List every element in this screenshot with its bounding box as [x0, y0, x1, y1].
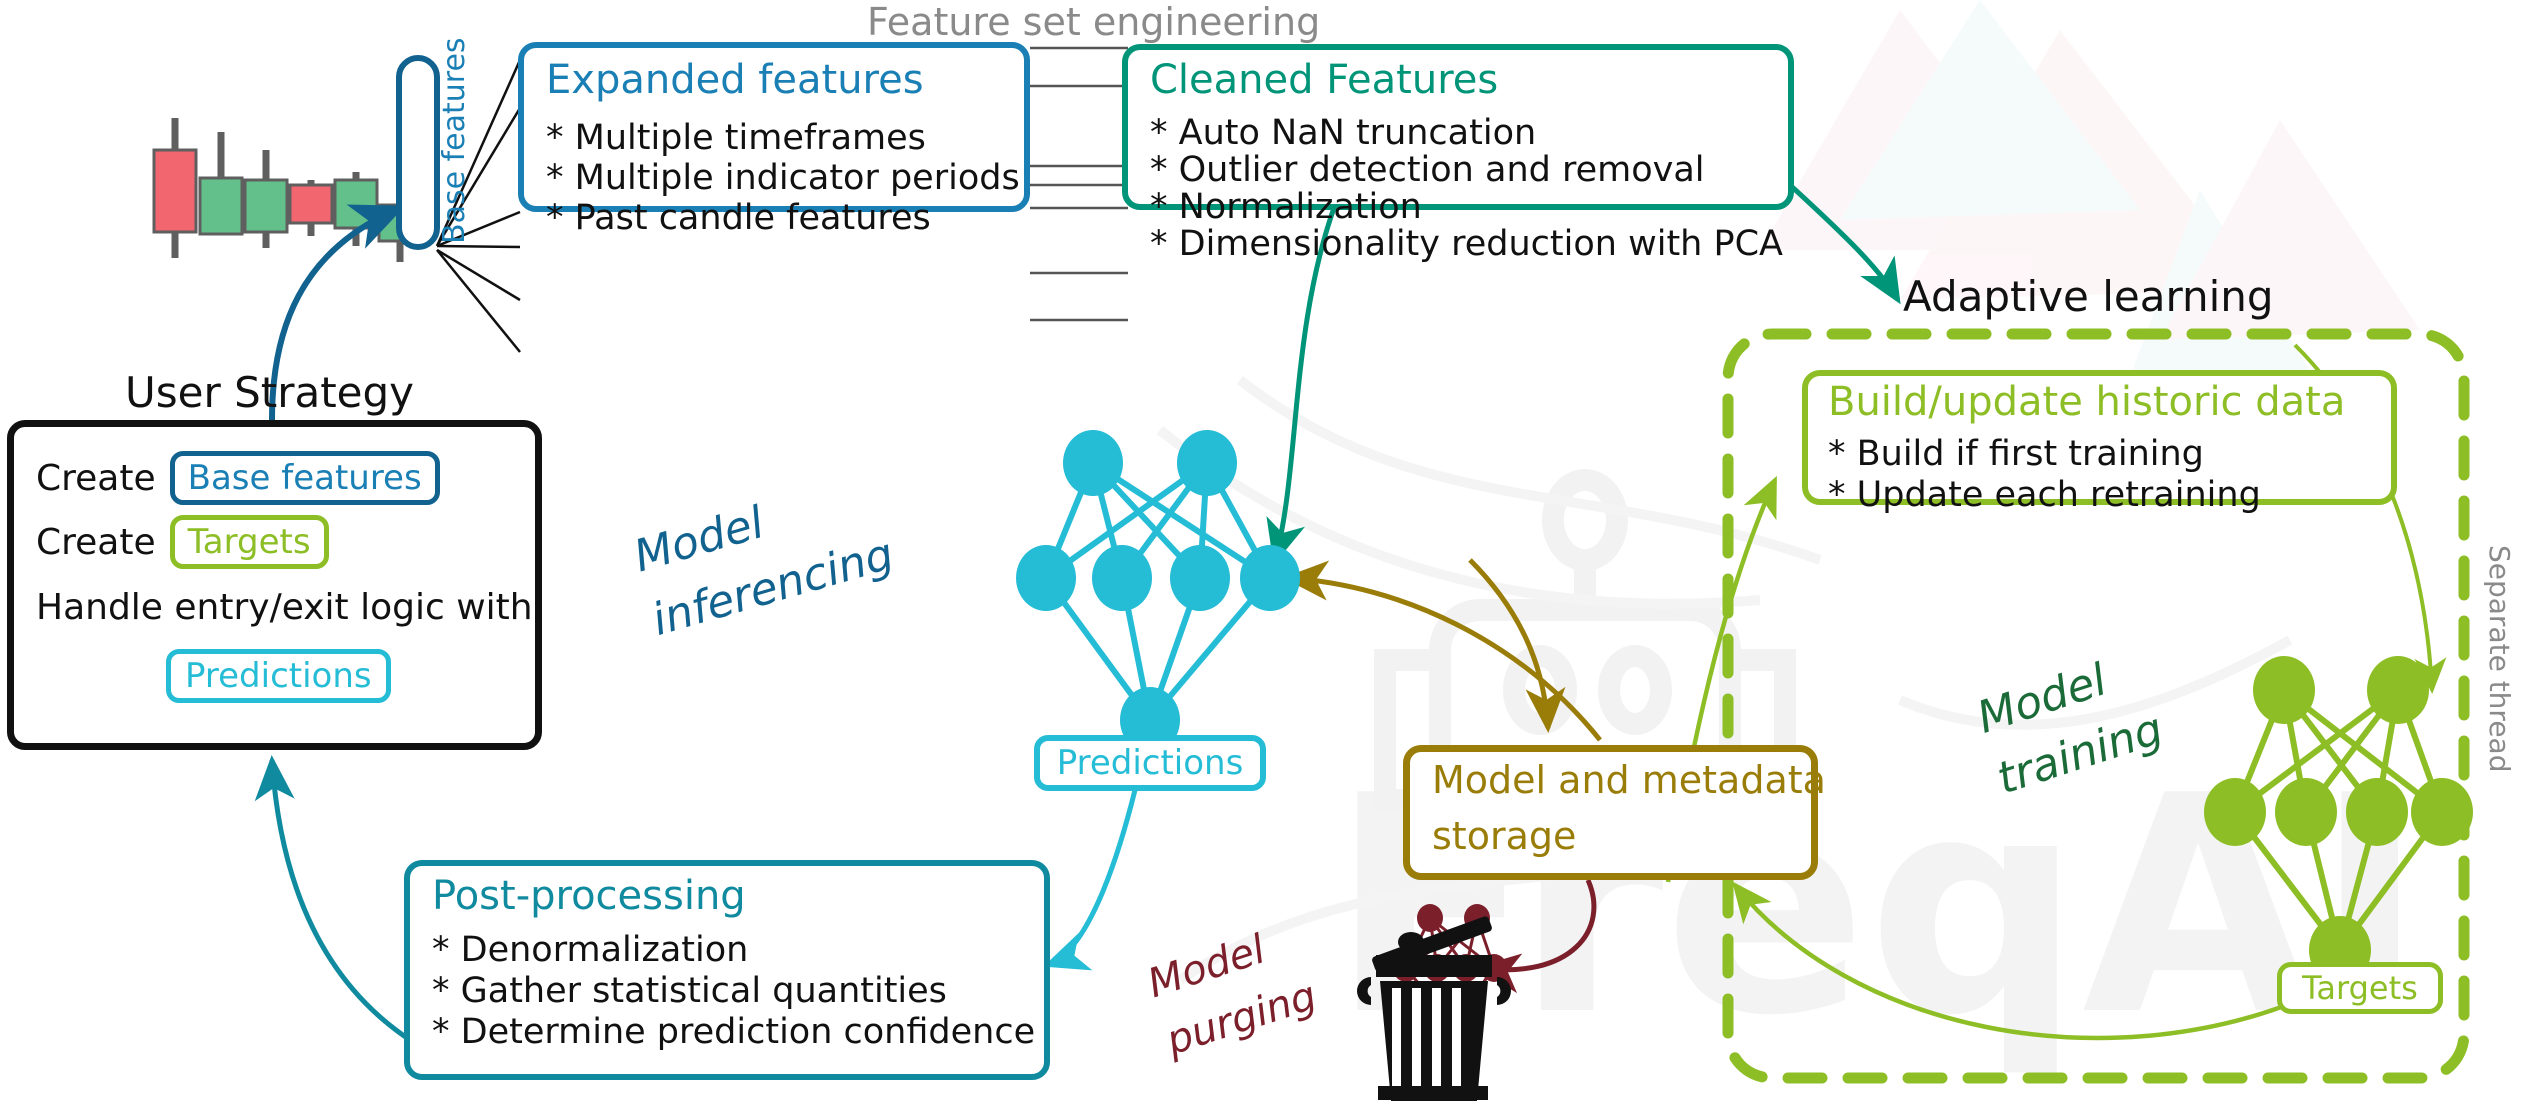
feature-set-engineering-header: Feature set engineering — [867, 0, 1320, 44]
cleaned-features-bullet-0: * Auto NaN truncation — [1150, 113, 1536, 154]
model-storage-line-2: storage — [1432, 814, 1576, 858]
predictions-inline-pill[interactable]: Predictions — [166, 649, 391, 703]
cleaned-features-bullet-2: * Normalization — [1150, 187, 1422, 228]
base-features-inline-pill[interactable]: Base features — [170, 451, 440, 505]
post-processing-bullet-0: * Denormalization — [432, 930, 748, 971]
user-strategy-line-1: Create Targets — [36, 515, 329, 569]
handle-logic-label: Handle entry/exit logic with — [36, 587, 533, 628]
expanded-features-bullet-2: * Past candle features — [546, 198, 931, 239]
model-storage-line-1: Model and metadata — [1432, 758, 1826, 802]
build-update-bullet-0: * Build if first training — [1828, 434, 2204, 475]
separate-thread-label: Separate thread — [2483, 545, 2516, 773]
targets-inline-pill[interactable]: Targets — [170, 515, 329, 569]
post-processing-bullet-2: * Determine prediction confidence — [432, 1012, 1035, 1053]
cleaned-features-box[interactable]: Cleaned Features * Auto NaN truncation *… — [1122, 44, 1794, 210]
create-label-1: Create — [36, 522, 156, 563]
post-processing-title: Post-processing — [432, 874, 746, 919]
base-features-pill[interactable]: Base features — [396, 55, 440, 250]
model-storage-box[interactable]: Model and metadata storage — [1403, 745, 1818, 880]
post-processing-bullet-1: * Gather statistical quantities — [432, 971, 947, 1012]
base-features-pill-label: Base features — [437, 37, 472, 244]
create-label-0: Create — [36, 458, 156, 499]
cleaned-features-bullet-1: * Outlier detection and removal — [1150, 150, 1705, 191]
expanded-features-bullet-1: * Multiple indicator periods — [546, 158, 1020, 199]
user-strategy-line-0: Create Base features — [36, 451, 440, 505]
expanded-features-box[interactable]: Expanded features * Multiple timeframes … — [518, 42, 1030, 212]
build-update-box[interactable]: Build/update historic data * Build if fi… — [1802, 370, 2397, 505]
cleaned-features-title: Cleaned Features — [1150, 58, 1498, 103]
user-strategy-heading: User Strategy — [125, 368, 414, 417]
targets-training-pill[interactable]: Targets — [2277, 962, 2443, 1014]
cleaned-features-bullet-3: * Dimensionality reduction with PCA — [1150, 224, 1783, 265]
post-processing-box[interactable]: Post-processing * Denormalization * Gath… — [404, 860, 1050, 1080]
expanded-features-title: Expanded features — [546, 58, 924, 103]
build-update-bullet-1: * Update each retraining — [1828, 475, 2261, 516]
diagram-canvas: FreqAI — [0, 0, 2539, 1104]
user-strategy-box[interactable]: Create Base features Create Targets Hand… — [7, 420, 542, 750]
build-update-title: Build/update historic data — [1828, 380, 2345, 425]
adaptive-learning-heading: Adaptive learning — [1903, 272, 2274, 321]
predictions-center-pill[interactable]: Predictions — [1034, 735, 1266, 791]
expanded-features-bullet-0: * Multiple timeframes — [546, 118, 926, 159]
